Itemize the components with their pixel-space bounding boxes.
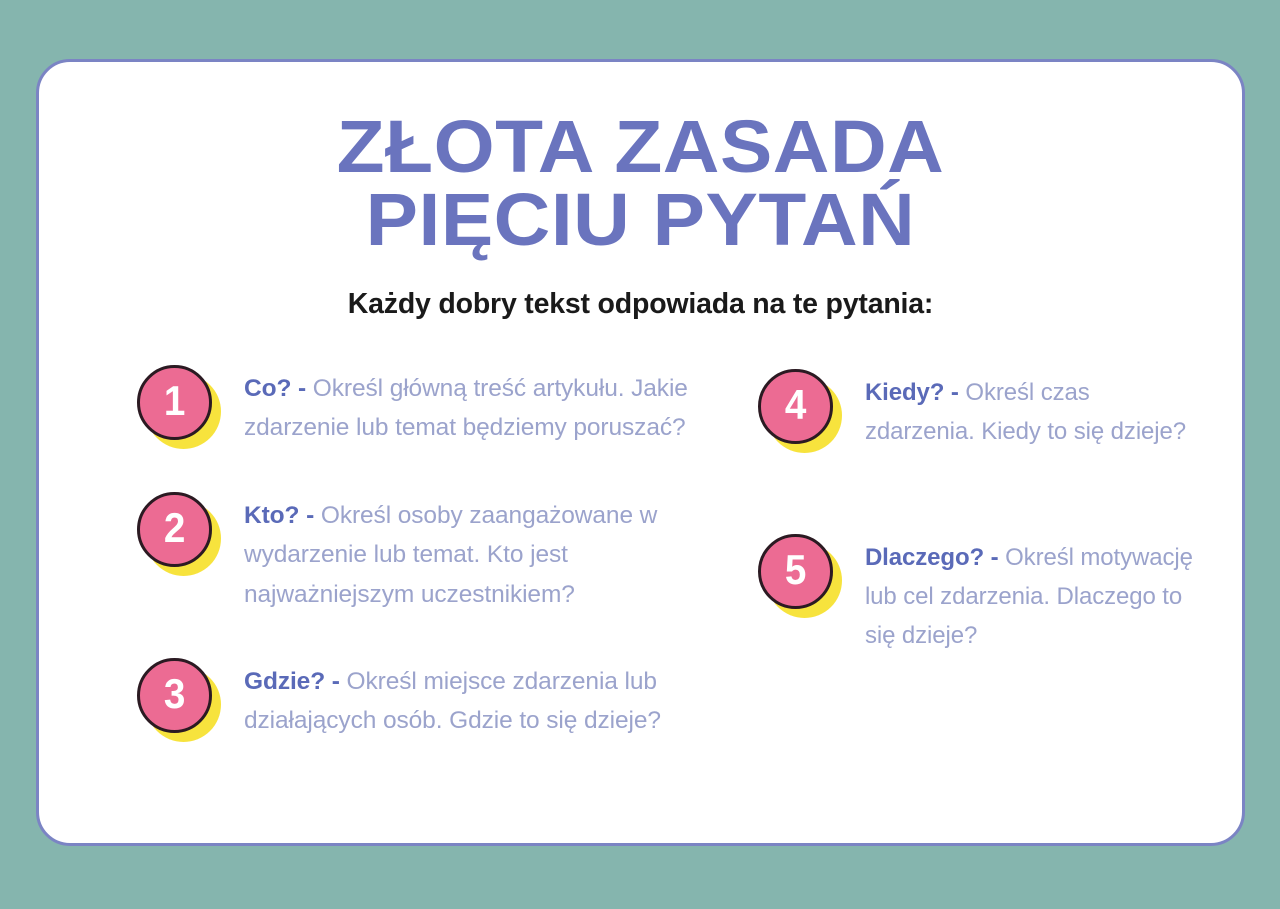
title-line-2: PIĘCIU PYTAŃ xyxy=(50,183,1232,256)
number-badge: 4 xyxy=(758,369,842,453)
subtitle: Każdy dobry tekst odpowiada na te pytani… xyxy=(83,288,1198,321)
number-badge: 1 xyxy=(137,365,221,449)
questions-column-right: 4 Kiedy? - Określ czas zdarzenia. Kiedy … xyxy=(700,363,1198,656)
infographic-stage: ZŁOTA ZASADA PIĘCIU PYTAŃ Każdy dobry te… xyxy=(0,0,1280,909)
question-lead: Kto? - xyxy=(244,502,314,529)
badge-disc: 5 xyxy=(758,534,833,609)
badge-disc: 2 xyxy=(137,492,212,567)
list-item: 1 Co? - Określ główną treść artykułu. Ja… xyxy=(137,363,700,449)
question-lead: Gdzie? - xyxy=(244,668,340,695)
list-item-text: Dlaczego? - Określ motywację lub cel zda… xyxy=(865,532,1198,656)
page-title: ZŁOTA ZASADA PIĘCIU PYTAŃ xyxy=(50,110,1232,257)
list-item-text: Kiedy? - Określ czas zdarzenia. Kiedy to… xyxy=(865,367,1198,452)
list-item-text: Kto? - Określ osoby zaangażowane w wydar… xyxy=(244,490,700,615)
question-body: Określ główną treść artykułu. Jakie zdar… xyxy=(244,375,688,442)
infographic-card: ZŁOTA ZASADA PIĘCIU PYTAŃ Każdy dobry te… xyxy=(36,59,1245,846)
questions-columns: 1 Co? - Określ główną treść artykułu. Ja… xyxy=(83,363,1198,742)
badge-number: 3 xyxy=(164,673,185,715)
question-lead: Dlaczego? - xyxy=(865,544,999,571)
number-badge: 3 xyxy=(137,658,221,742)
badge-disc: 4 xyxy=(758,369,833,444)
title-line-1: ZŁOTA ZASADA xyxy=(50,110,1232,183)
question-lead: Co? - xyxy=(244,375,306,402)
list-item: 5 Dlaczego? - Określ motywację lub cel z… xyxy=(758,532,1198,656)
badge-disc: 3 xyxy=(137,658,212,733)
list-item-text: Co? - Określ główną treść artykułu. Jaki… xyxy=(244,363,700,448)
badge-number: 5 xyxy=(785,549,806,591)
list-item: 3 Gdzie? - Określ miejsce zdarzenia lub … xyxy=(137,656,700,742)
list-item-text: Gdzie? - Określ miejsce zdarzenia lub dz… xyxy=(244,656,700,741)
number-badge: 2 xyxy=(137,492,221,576)
list-item: 4 Kiedy? - Określ czas zdarzenia. Kiedy … xyxy=(758,367,1198,453)
badge-number: 4 xyxy=(785,384,806,426)
questions-column-left: 1 Co? - Określ główną treść artykułu. Ja… xyxy=(83,363,700,742)
list-item: 2 Kto? - Określ osoby zaangażowane w wyd… xyxy=(137,490,700,615)
number-badge: 5 xyxy=(758,534,842,618)
badge-disc: 1 xyxy=(137,365,212,440)
question-lead: Kiedy? - xyxy=(865,379,959,406)
badge-number: 1 xyxy=(164,380,185,422)
badge-number: 2 xyxy=(164,507,185,549)
